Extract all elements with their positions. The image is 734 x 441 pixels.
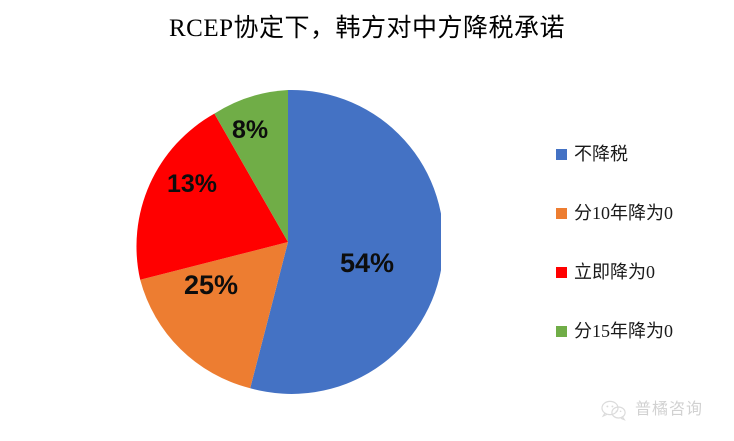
- pie-chart: [135, 89, 441, 395]
- legend-label-1: 分10年降为0: [574, 203, 673, 223]
- pie-data-label-2: 13%: [167, 170, 217, 199]
- legend-label-3: 分15年降为0: [574, 321, 673, 341]
- watermark: 普橘咨询: [601, 399, 703, 421]
- wechat-logo-icon: [601, 399, 627, 421]
- watermark-text: 普橘咨询: [635, 400, 703, 420]
- legend-color-swatch-1: [556, 208, 567, 219]
- legend-color-swatch-0: [556, 149, 567, 160]
- pie-data-label-3: 8%: [232, 116, 268, 145]
- legend-item-0[interactable]: 不降税: [556, 143, 728, 165]
- legend-color-swatch-3: [556, 326, 567, 337]
- legend-item-2[interactable]: 立即降为0: [556, 261, 728, 283]
- chart-title: RCEP协定下，韩方对中方降税承诺: [0, 13, 734, 45]
- chart-canvas: RCEP协定下，韩方对中方降税承诺 54% 25% 13% 8% 不降税 分10…: [0, 0, 734, 441]
- legend-label-0: 不降税: [574, 144, 628, 164]
- legend-item-3[interactable]: 分15年降为0: [556, 320, 728, 342]
- legend-label-2: 立即降为0: [574, 262, 655, 282]
- pie-data-label-0: 54%: [340, 248, 394, 279]
- legend-color-swatch-2: [556, 267, 567, 278]
- pie-svg: [135, 89, 441, 395]
- legend-item-1[interactable]: 分10年降为0: [556, 202, 728, 224]
- chart-legend: 不降税 分10年降为0 立即降为0 分15年降为0: [556, 143, 728, 379]
- pie-data-label-1: 25%: [184, 270, 238, 301]
